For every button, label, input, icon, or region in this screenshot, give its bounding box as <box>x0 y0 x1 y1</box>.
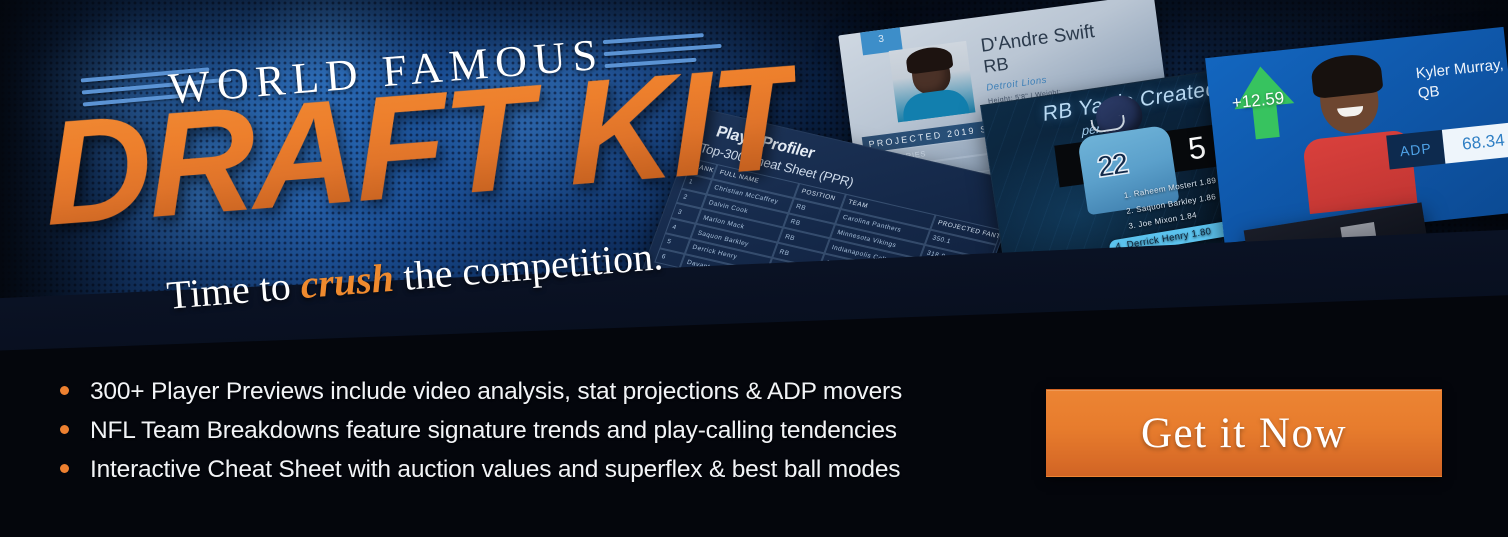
list-item: NFL Team Breakdowns feature signature tr… <box>60 417 1010 445</box>
get-it-now-button[interactable]: Get it Now <box>1046 389 1442 477</box>
adp-value: 68.34 <box>1442 121 1508 163</box>
player-name: D'Andre Swift RB <box>980 22 1099 77</box>
adp-label: ADP <box>1386 130 1445 170</box>
list-item: 300+ Player Previews include video analy… <box>60 378 1010 406</box>
player-team: Detroit Lions <box>986 75 1048 94</box>
adp-delta-value: +12.59 <box>1231 88 1285 113</box>
bullet-text: NFL Team Breakdowns feature signature tr… <box>90 417 897 445</box>
bullet-text: Interactive Cheat Sheet with auction val… <box>90 456 900 484</box>
draft-kit-promo-banner: 3 D'Andre Swift RB Detroit Lions Height:… <box>0 0 1508 537</box>
photo-hair <box>1310 52 1384 99</box>
bullet-dot-icon <box>60 425 69 434</box>
adp-player-name-text: Kyler Murray, <box>1415 56 1504 82</box>
headline-block: WORLD FAMOUS DRAFT KIT Time to crush the… <box>0 0 820 330</box>
tagline-pre: Time to <box>165 262 302 318</box>
feature-bullet-list: 300+ Player Previews include video analy… <box>60 378 1010 495</box>
bullet-dot-icon <box>60 386 69 395</box>
bullet-text: 300+ Player Previews include video analy… <box>90 378 902 406</box>
get-it-now-button-label: Get it Now <box>1141 409 1347 458</box>
adp-player-position: QB <box>1417 83 1440 102</box>
bullet-dot-icon <box>60 464 69 473</box>
tagline-post: the competition. <box>392 233 665 300</box>
adp-player-name: Kyler Murray, QB <box>1415 54 1508 104</box>
adp-mover-card: +12.59 Kyler Murray, QB ADP 68.34 <box>1205 27 1508 243</box>
jersey-number: 22 <box>1095 147 1129 185</box>
adp-player-photo <box>1289 43 1421 214</box>
player-headshot <box>889 41 976 123</box>
headshot-shirt <box>901 87 970 122</box>
tagline-accent-word: crush <box>299 255 396 307</box>
list-item: Interactive Cheat Sheet with auction val… <box>60 456 1010 484</box>
tagline: Time to crush the competition. <box>165 232 665 319</box>
